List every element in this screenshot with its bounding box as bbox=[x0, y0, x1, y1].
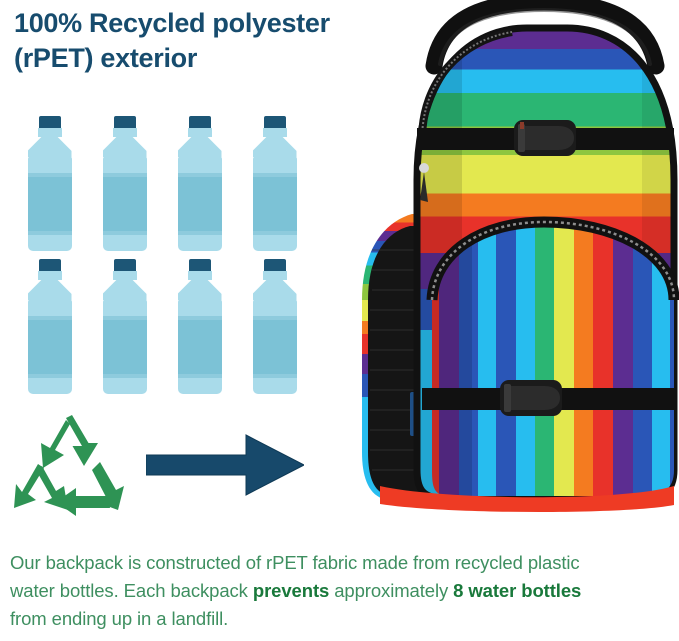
bottle-mid-band bbox=[178, 319, 222, 376]
bottle-mid-band bbox=[28, 176, 72, 233]
bottle-shoulder bbox=[103, 278, 147, 300]
water-bottle-grid bbox=[12, 112, 312, 398]
bottle-shoulder bbox=[28, 135, 72, 157]
bottle-ridge-upper bbox=[253, 316, 297, 320]
bottle-shoulder bbox=[253, 135, 297, 157]
water-bottle-icon bbox=[12, 112, 87, 255]
water-bottle-icon bbox=[162, 255, 237, 398]
front-pocket bbox=[422, 210, 679, 510]
bottle-ridge-upper bbox=[253, 173, 297, 177]
recycle-icon bbox=[14, 412, 126, 516]
bottle-shoulder bbox=[28, 278, 72, 300]
bottle-ridge-lower bbox=[103, 374, 147, 378]
water-bottle-icon bbox=[87, 112, 162, 255]
bottle-ridge-lower bbox=[253, 231, 297, 235]
bottle-ridge-lower bbox=[28, 231, 72, 235]
arrow-right-icon bbox=[146, 433, 304, 497]
bottle-shoulder bbox=[253, 278, 297, 300]
water-bottle-icon bbox=[87, 255, 162, 398]
bottle-ridge-upper bbox=[28, 173, 72, 177]
buckle-lower bbox=[500, 380, 562, 416]
buckle-upper bbox=[514, 120, 576, 156]
bottle-ridge-upper bbox=[178, 173, 222, 177]
bottle-mid-band bbox=[103, 176, 147, 233]
bottle-ridge-upper bbox=[103, 173, 147, 177]
bottle-mid-band bbox=[103, 319, 147, 376]
bottle-mid-band bbox=[178, 176, 222, 233]
caption-line-1: Our backpack is constructed of rPET fabr… bbox=[10, 549, 670, 577]
caption-text: Our backpack is constructed of rPET fabr… bbox=[10, 549, 670, 632]
bottle-ridge-lower bbox=[253, 374, 297, 378]
bottle-shoulder bbox=[103, 135, 147, 157]
caption-emphasis-bottle-count: 8 water bottles bbox=[453, 580, 581, 601]
bottle-ridge-lower bbox=[28, 374, 72, 378]
bottle-mid-band bbox=[28, 319, 72, 376]
water-bottle-icon bbox=[12, 255, 87, 398]
bottle-ridge-upper bbox=[178, 316, 222, 320]
bottle-ridge-lower bbox=[103, 231, 147, 235]
bottle-ridge-lower bbox=[178, 374, 222, 378]
water-bottle-icon bbox=[162, 112, 237, 255]
bottle-mid-band bbox=[253, 319, 297, 376]
caption-line-3: from ending up in a landfill. bbox=[10, 605, 670, 633]
water-bottle-icon bbox=[237, 255, 312, 398]
water-bottle-icon bbox=[237, 112, 312, 255]
caption-line-2-c: approximately bbox=[329, 580, 453, 601]
bottle-ridge-upper bbox=[103, 316, 147, 320]
bottle-shoulder bbox=[178, 278, 222, 300]
bottle-shoulder bbox=[178, 135, 222, 157]
caption-line-2-a: water bottles. Each backpack bbox=[10, 580, 253, 601]
bottle-ridge-lower bbox=[178, 231, 222, 235]
bottle-mid-band bbox=[253, 176, 297, 233]
caption-line-2: water bottles. Each backpack prevents ap… bbox=[10, 577, 670, 605]
caption-emphasis-prevents: prevents bbox=[253, 580, 329, 601]
product-photo-backpack bbox=[322, 0, 679, 516]
bottle-ridge-upper bbox=[28, 316, 72, 320]
